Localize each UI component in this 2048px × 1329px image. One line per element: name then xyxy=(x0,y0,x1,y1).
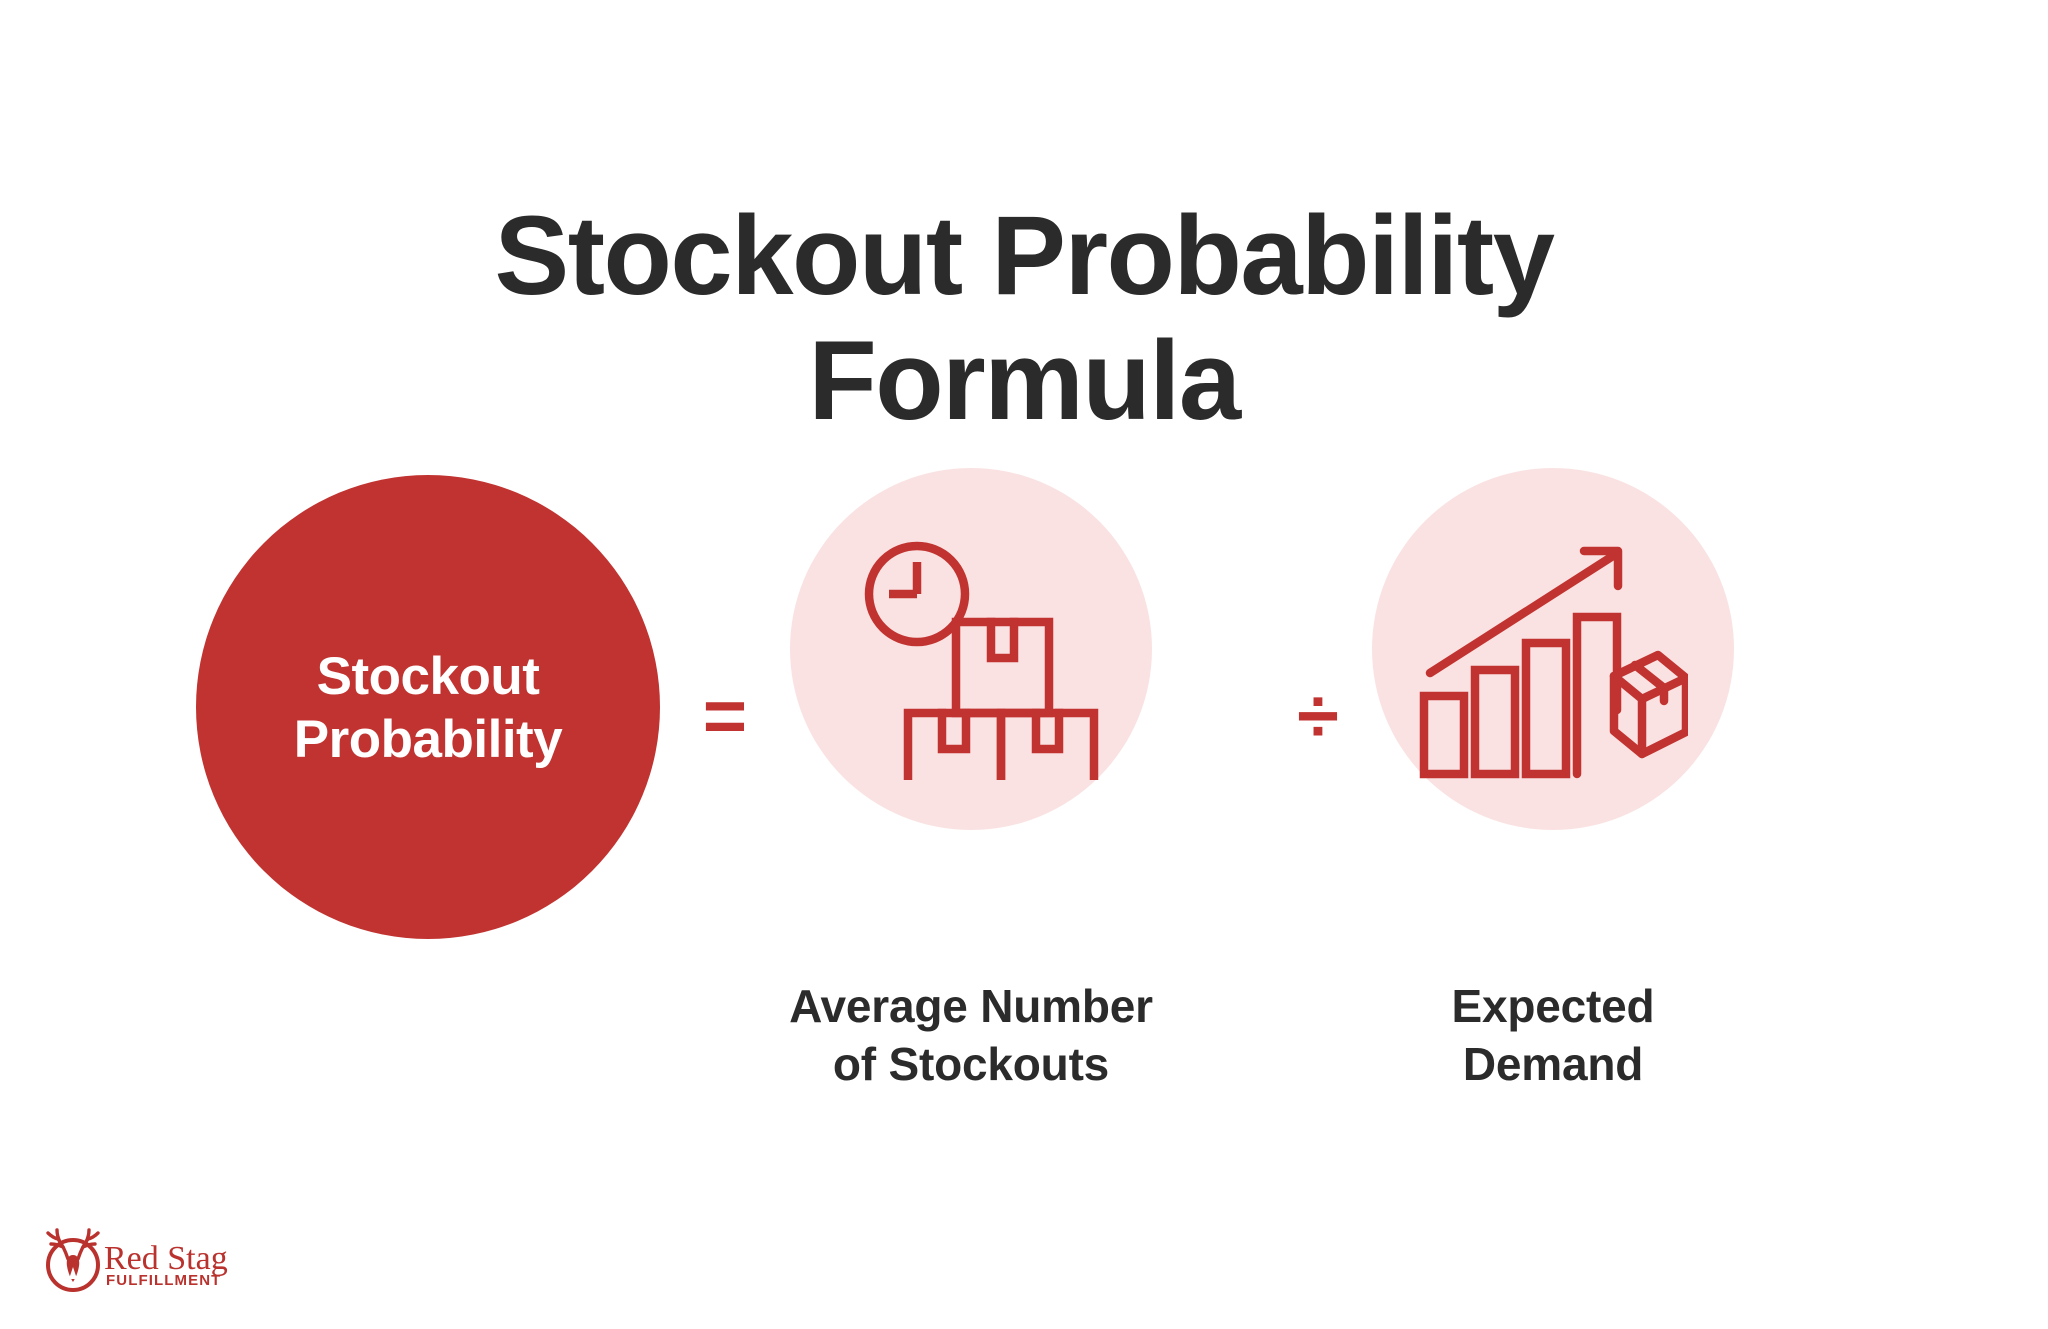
page-title: Stockout Probability Formula xyxy=(0,193,2048,444)
formula-diagram: Stockout Probability = xyxy=(0,440,2048,940)
equals-operator: = xyxy=(680,672,770,762)
expected-demand-caption-line-2: Demand xyxy=(1293,1036,1813,1094)
expected-demand-caption: Expected Demand xyxy=(1293,978,1813,1093)
expected-demand-circle xyxy=(1372,468,1734,830)
growth-bar-chart-with-box-icon xyxy=(1418,518,1688,780)
average-stockouts-caption: Average Number of Stockouts xyxy=(711,978,1231,1093)
divide-operator: ÷ xyxy=(1273,672,1363,762)
stockout-probability-label-line-1: Stockout xyxy=(294,646,562,709)
average-stockouts-caption-line-2: of Stockouts xyxy=(711,1036,1231,1094)
svg-text:FULFILLMENT: FULFILLMENT xyxy=(106,1272,221,1289)
stockout-probability-label: Stockout Probability xyxy=(294,642,562,771)
average-stockouts-caption-line-1: Average Number xyxy=(711,978,1231,1036)
page-title-line-2: Formula xyxy=(0,318,2048,443)
red-stag-fulfillment-logo: Red Stag FULFILLMENT xyxy=(38,1217,268,1297)
stockout-probability-circle: Stockout Probability xyxy=(196,475,660,939)
stockout-probability-label-line-2: Probability xyxy=(294,709,562,772)
stag-head-in-circle-icon xyxy=(48,1230,98,1290)
logo-wordmark: Red Stag FULFILLMENT xyxy=(104,1240,228,1289)
page-title-line-1: Stockout Probability xyxy=(0,193,2048,318)
clock-and-stacked-boxes-icon xyxy=(840,518,1102,780)
expected-demand-caption-line-1: Expected xyxy=(1293,978,1813,1036)
average-stockouts-circle xyxy=(790,468,1152,830)
